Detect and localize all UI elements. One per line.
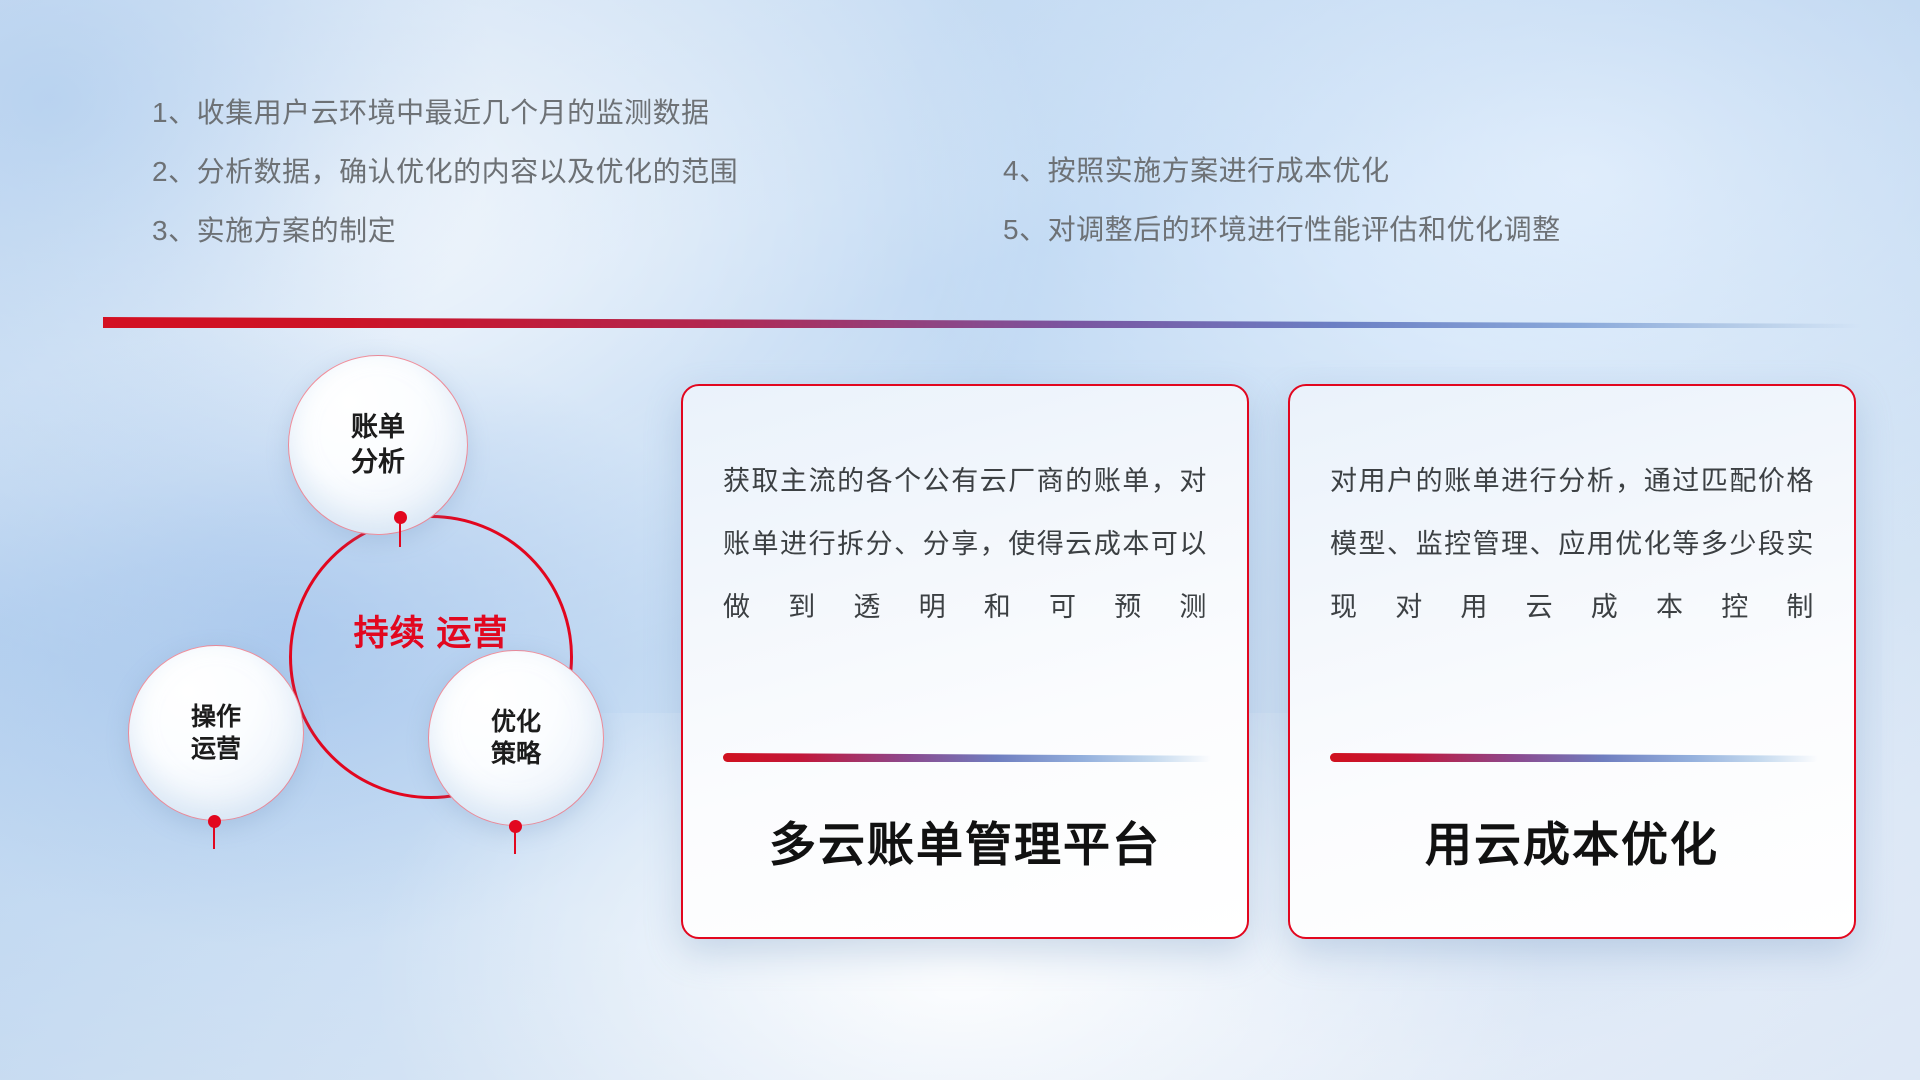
venn-bubble-billing-analysis[interactable]: 账单 分析 (288, 355, 468, 535)
venn-bubble-label-line-2: 分析 (351, 445, 405, 480)
step-item-1: 1、收集用户云环境中最近几个月的监测数据 (152, 99, 738, 127)
connector-stem-top (399, 523, 401, 547)
info-card-title: 多云账单管理平台 (683, 806, 1247, 875)
info-card-title: 用云成本优化 (1290, 806, 1854, 875)
info-card-body: 获取主流的各个公有云厂商的账单，对账单进行拆分、分享，使得云成本可以做到透明和可… (723, 450, 1207, 640)
venn-bubble-label-line-1: 账单 (351, 410, 405, 445)
step-item-5: 5、对调整后的环境进行性能评估和优化调整 (1003, 216, 1561, 244)
connector-dot-top (394, 511, 407, 524)
venn-bubble-operations[interactable]: 操作 运营 (128, 645, 304, 821)
venn-bubble-label-line-2: 策略 (491, 738, 541, 770)
venn-diagram: 持续 运营 账单 分析 操作 运营 优化 策略 (100, 355, 640, 955)
connector-stem-right (514, 832, 516, 854)
connector-dot-left (208, 815, 221, 828)
step-item-2: 2、分析数据，确认优化的内容以及优化的范围 (152, 158, 738, 186)
core-label-line-2: 运营 (436, 614, 508, 653)
info-card-multicloud-billing[interactable]: 获取主流的各个公有云厂商的账单，对账单进行拆分、分享，使得云成本可以做到透明和可… (681, 384, 1249, 939)
venn-bubble-label-line-1: 操作 (191, 701, 241, 733)
info-card-cloud-cost-optimization[interactable]: 对用户的账单进行分析，通过匹配价格模型、监控管理、应用优化等多少段实现对用云成本… (1288, 384, 1856, 939)
connector-dot-right (509, 820, 522, 833)
venn-bubble-label-line-1: 优化 (491, 706, 541, 738)
step-item-4: 4、按照实施方案进行成本优化 (1003, 157, 1561, 185)
core-label-line-1: 持续 (354, 614, 426, 653)
venn-bubble-optimization-strategy[interactable]: 优化 策略 (428, 650, 604, 826)
info-card-body: 对用户的账单进行分析，通过匹配价格模型、监控管理、应用优化等多少段实现对用云成本… (1330, 450, 1814, 640)
gradient-divider-bar (103, 317, 1861, 328)
core-label: 持续 运营 (289, 613, 573, 656)
gradient-divider (103, 317, 1861, 328)
step-item-3: 3、实施方案的制定 (152, 217, 738, 245)
steps-list-left: 1、收集用户云环境中最近几个月的监测数据 2、分析数据，确认优化的内容以及优化的… (152, 99, 738, 276)
info-card-gradient-rule (1330, 753, 1818, 762)
steps-list-right: 4、按照实施方案进行成本优化 5、对调整后的环境进行性能评估和优化调整 (1003, 157, 1561, 275)
connector-stem-left (213, 827, 215, 849)
info-card-gradient-rule (723, 753, 1211, 762)
venn-bubble-label-line-2: 运营 (191, 733, 241, 765)
